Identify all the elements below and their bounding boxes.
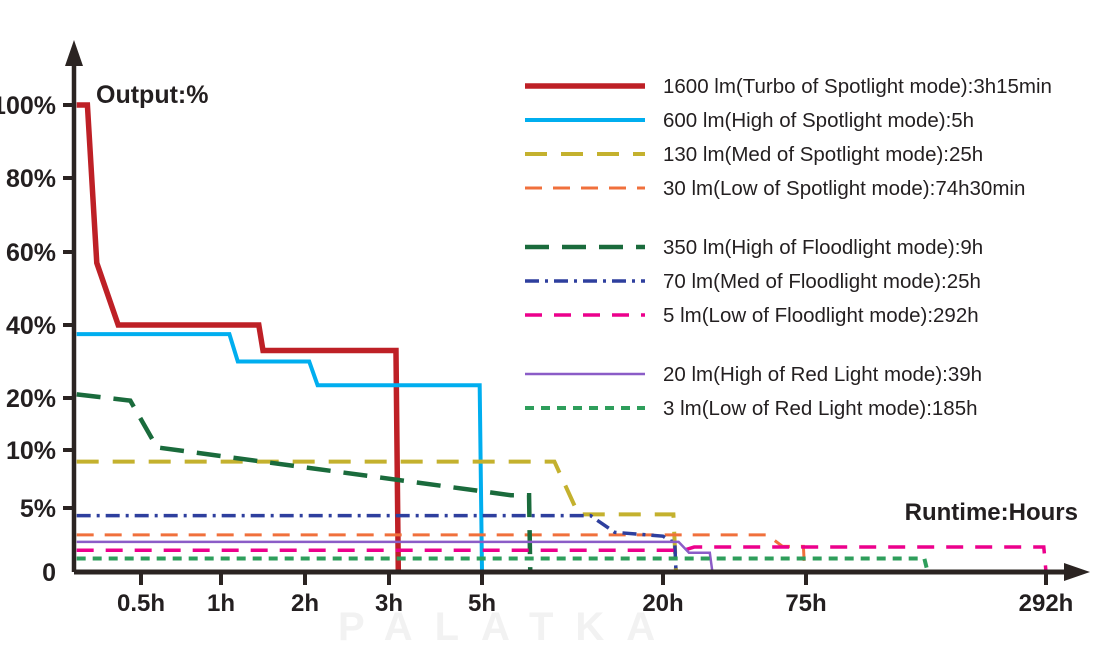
y-axis-tick-label: 0 xyxy=(42,559,56,587)
x-axis-title: Runtime:Hours xyxy=(905,499,1078,526)
legend-label-4: 350 lm(High of Floodlight mode):9h xyxy=(663,236,983,259)
x-axis-tick-label: 5h xyxy=(468,590,496,617)
series-line-4 xyxy=(77,394,531,572)
y-axis-tick-label: 10% xyxy=(6,437,56,465)
y-axis-tick-label: 80% xyxy=(6,165,56,193)
y-axis-arrow-icon xyxy=(65,40,83,66)
y-axis-tick-label: 20% xyxy=(6,385,56,413)
chart-container: PALATKA 100%80%60%40%20%10%5%00.5h1h2h3h… xyxy=(0,0,1100,667)
legend-label-6: 5 lm(Low of Floodlight mode):292h xyxy=(663,304,979,327)
x-axis-tick-label: 75h xyxy=(785,590,826,617)
legend-label-3: 30 lm(Low of Spotlight mode):74h30min xyxy=(663,177,1025,200)
series-line-5 xyxy=(77,516,676,572)
x-axis-tick-label: 0.5h xyxy=(117,590,165,617)
x-axis-tick-label: 292h xyxy=(1019,590,1074,617)
series-line-7 xyxy=(77,542,713,572)
x-axis-tick-label: 2h xyxy=(291,590,319,617)
y-axis-tick-label: 100% xyxy=(0,92,56,120)
x-axis-tick-label: 1h xyxy=(207,590,235,617)
legend-label-0: 1600 lm(Turbo of Spotlight mode):3h15min xyxy=(663,75,1052,98)
series-line-0 xyxy=(77,105,399,572)
x-axis-tick-label: 20h xyxy=(642,590,683,617)
series-layer xyxy=(77,105,1046,572)
legend-label-1: 600 lm(High of Spotlight mode):5h xyxy=(663,109,974,132)
legend-label-2: 130 lm(Med of Spotlight mode):25h xyxy=(663,143,983,166)
legend-label-8: 3 lm(Low of Red Light mode):185h xyxy=(663,397,978,420)
legend-label-5: 70 lm(Med of Floodlight mode):25h xyxy=(663,270,981,293)
y-axis-title: Output:% xyxy=(96,81,208,109)
runtime-output-chart: PALATKA 100%80%60%40%20%10%5%00.5h1h2h3h… xyxy=(0,0,1100,667)
y-axis-tick-label: 60% xyxy=(6,239,56,267)
y-axis-tick-label: 5% xyxy=(20,495,56,523)
legend-label-7: 20 lm(High of Red Light mode):39h xyxy=(663,363,982,386)
axis-ticks-layer: 100%80%60%40%20%10%5%00.5h1h2h3h5h20h75h… xyxy=(0,92,1073,617)
legend: 1600 lm(Turbo of Spotlight mode):3h15min… xyxy=(525,75,1052,420)
x-axis-tick-label: 3h xyxy=(375,590,403,617)
y-axis-tick-label: 40% xyxy=(6,312,56,340)
x-axis-arrow-icon xyxy=(1064,563,1090,581)
